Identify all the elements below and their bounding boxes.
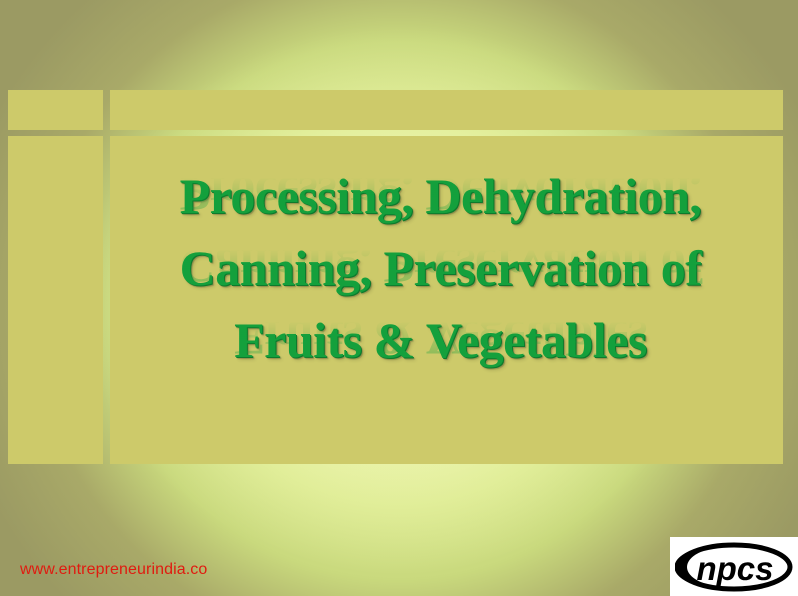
npcs-wordmark: npcs <box>696 550 773 587</box>
table-cell-row2-col2 <box>110 136 783 464</box>
title-slide: Processing, Dehydration, Processing, Deh… <box>0 0 798 596</box>
table-cell-row2-col1 <box>8 136 103 464</box>
table-cell-row1-col1 <box>8 90 103 130</box>
title-table-frame <box>6 88 785 466</box>
npcs-logo[interactable]: npcs <box>670 537 798 596</box>
npcs-logo-icon: npcs <box>675 542 793 592</box>
website-url[interactable]: www.entrepreneurindia.co <box>20 561 207 579</box>
table-cell-row1-col2 <box>110 90 783 130</box>
